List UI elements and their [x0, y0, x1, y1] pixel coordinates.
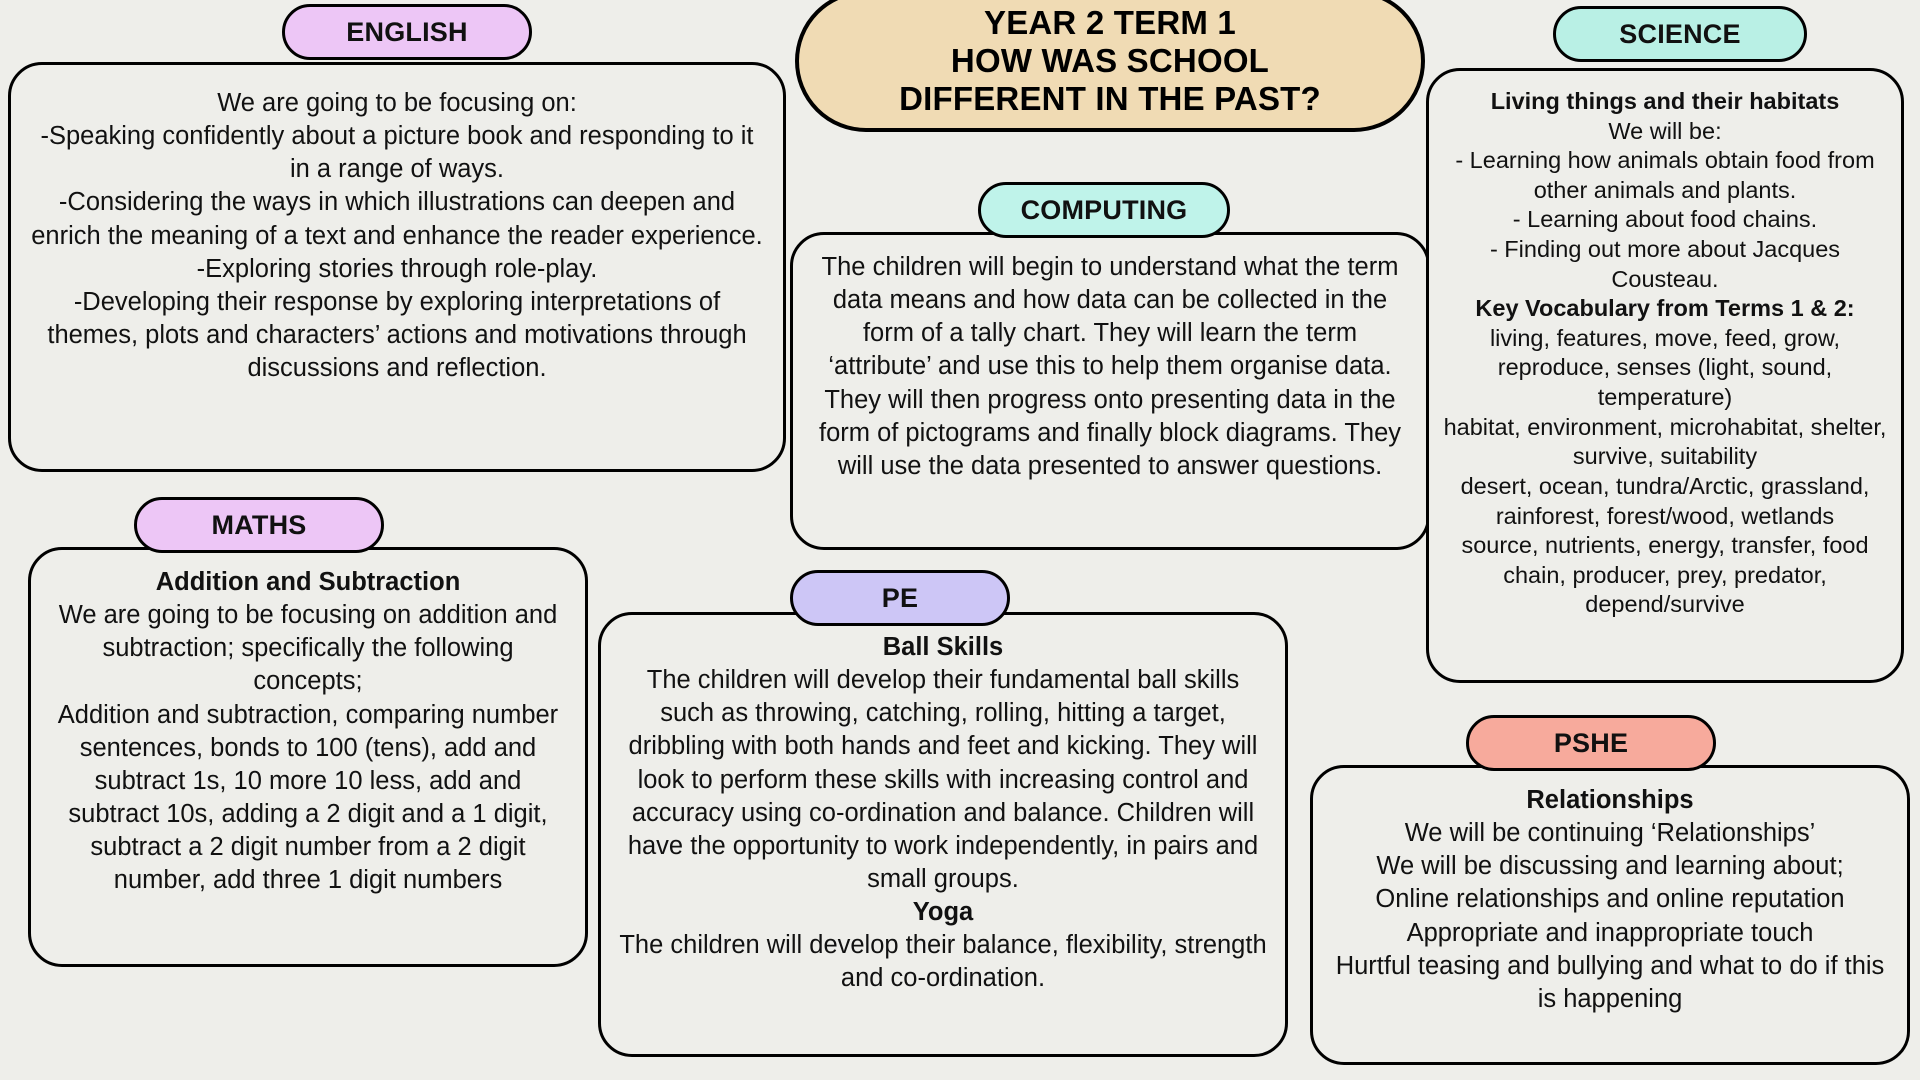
subject-label-computing: COMPUTING [978, 182, 1230, 238]
subject-label-science: SCIENCE [1553, 6, 1807, 62]
science-heading-habitats: Living things and their habitats [1443, 87, 1887, 117]
science-body-habitats: We will be: - Learning how animals obtai… [1443, 117, 1887, 295]
page-title-line-3: DIFFERENT IN THE PAST? [899, 80, 1321, 118]
maths-body: We are going to be focusing on addition … [49, 599, 567, 897]
subject-card-computing: The children will begin to understand wh… [790, 232, 1430, 550]
pshe-heading: Relationships [1331, 784, 1889, 817]
english-body: We are going to be focusing on: -Speakin… [29, 87, 765, 385]
subject-label-maths: MATHS [134, 497, 384, 553]
subject-label-pshe: PSHE [1466, 715, 1716, 771]
subject-card-science: Living things and their habitats We will… [1426, 68, 1904, 683]
pshe-body: We will be continuing ‘Relationships’ We… [1331, 817, 1889, 1016]
page-title: YEAR 2 TERM 1 HOW WAS SCHOOL DIFFERENT I… [899, 4, 1321, 119]
subject-card-pe: Ball Skills The children will develop th… [598, 612, 1288, 1057]
maths-label-text: MATHS [212, 510, 307, 541]
pe-body-yoga: The children will develop their balance,… [619, 929, 1267, 995]
pe-heading-yoga: Yoga [619, 896, 1267, 929]
science-heading-key-vocabulary: Key Vocabulary from Terms 1 & 2: [1443, 294, 1887, 324]
subject-card-maths: Addition and Subtraction We are going to… [28, 547, 588, 967]
subject-card-english: We are going to be focusing on: -Speakin… [8, 62, 786, 472]
science-label-text: SCIENCE [1619, 19, 1740, 50]
pe-heading-ball-skills: Ball Skills [619, 631, 1267, 664]
computing-label-text: COMPUTING [1021, 195, 1188, 226]
curriculum-overview-board: ENGLISH We are going to be focusing on: … [0, 0, 1920, 1080]
maths-heading: Addition and Subtraction [49, 566, 567, 599]
pshe-label-text: PSHE [1554, 728, 1628, 759]
computing-body: The children will begin to understand wh… [811, 251, 1409, 483]
subject-card-pshe: Relationships We will be continuing ‘Rel… [1310, 765, 1910, 1065]
pe-label-text: PE [882, 583, 918, 614]
page-title-line-2: HOW WAS SCHOOL [899, 42, 1321, 80]
page-title-line-1: YEAR 2 TERM 1 [899, 4, 1321, 42]
page-title-card: YEAR 2 TERM 1 HOW WAS SCHOOL DIFFERENT I… [795, 0, 1425, 132]
english-label-text: ENGLISH [346, 17, 467, 48]
science-body-key-vocabulary: living, features, move, feed, grow, repr… [1443, 324, 1887, 620]
subject-label-english: ENGLISH [282, 4, 532, 60]
subject-label-pe: PE [790, 570, 1010, 626]
pe-body-ball-skills: The children will develop their fundamen… [619, 664, 1267, 896]
